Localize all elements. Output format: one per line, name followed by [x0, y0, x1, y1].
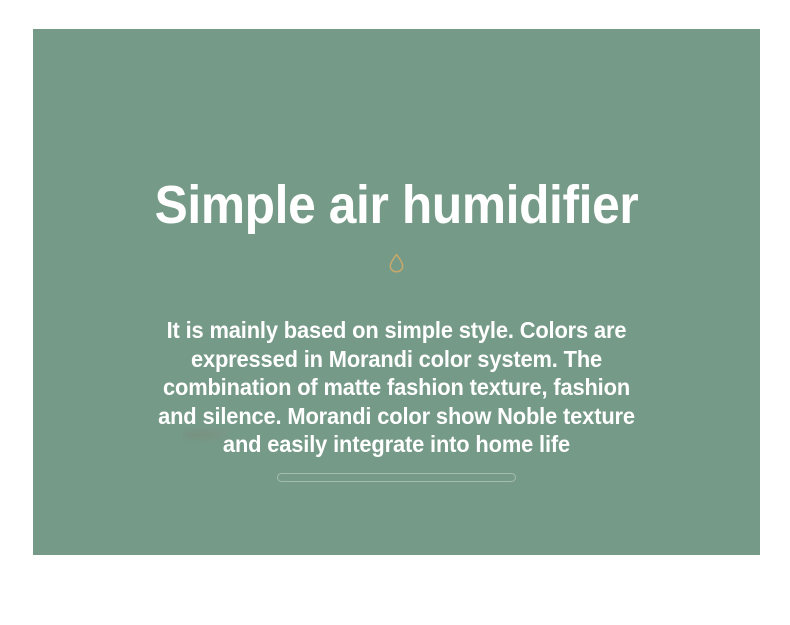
page-canvas: Simple air humidifier It is mainly based… — [0, 0, 790, 625]
water-droplet-icon-container — [33, 251, 760, 275]
description-line: expressed in Morandi color system. The — [121, 345, 673, 374]
description-line: and easily integrate into home life — [121, 430, 673, 459]
description-line: It is mainly based on simple style. Colo… — [121, 316, 673, 345]
description-line: and silence. Morandi color show Noble te… — [121, 402, 673, 431]
rounded-pill-divider-container — [33, 473, 760, 482]
rounded-pill-divider — [277, 473, 516, 482]
water-droplet-icon — [389, 253, 404, 273]
product-description: It is mainly based on simple style. Colo… — [121, 316, 673, 459]
product-hero-card: Simple air humidifier It is mainly based… — [33, 29, 760, 555]
description-line: combination of matte fashion texture, fa… — [121, 373, 673, 402]
page-title: Simple air humidifier — [62, 173, 731, 237]
